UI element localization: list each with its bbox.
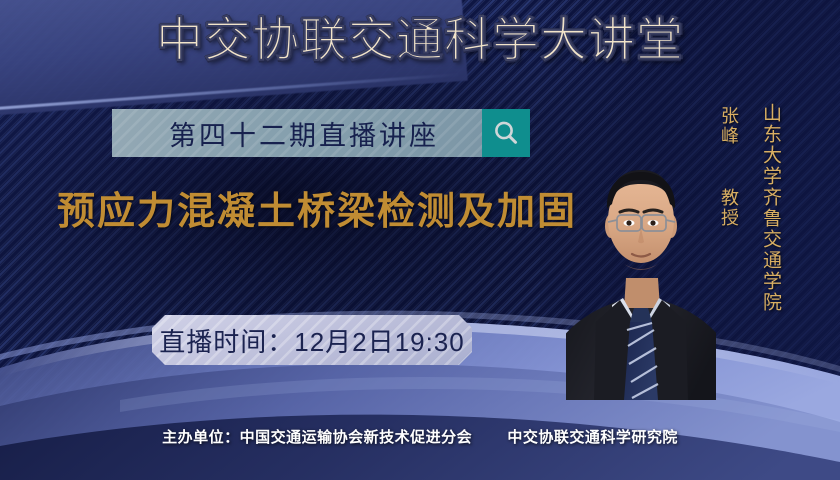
footer-organizers: 主办单位：中国交通运输协会新技术促进分会 中交协联交通科学研究院 <box>0 426 840 447</box>
footer-organizer-label: 主办单位：中国交通运输协会新技术促进分会 <box>162 429 472 446</box>
live-lecture-poster: 中交协联交通科学大讲堂 第四十二期直播讲座 预应力混凝土桥梁检测及加固 直播时间… <box>0 0 840 480</box>
search-icon <box>491 118 521 148</box>
footer-institute: 中交协联交通科学研究院 <box>507 429 678 446</box>
lecture-headline: 预应力混凝土桥梁检测及加固 <box>57 193 577 231</box>
episode-banner: 第四十二期直播讲座 <box>112 109 530 157</box>
poster-title: 中交协联交通科学大讲堂 <box>0 16 840 63</box>
broadcast-time-badge: 直播时间：12月2日19:30 <box>152 315 472 365</box>
episode-banner-bar: 第四十二期直播讲座 <box>112 109 482 157</box>
speaker-organization: 山东大学齐鲁交通学院 <box>757 103 784 313</box>
broadcast-time-label: 直播时间：12月2日19:30 <box>159 322 464 359</box>
speaker-name: 张峰 <box>716 106 742 146</box>
episode-label: 第四十二期直播讲座 <box>155 114 439 153</box>
speaker-role: 教授 <box>716 188 742 228</box>
search-button[interactable] <box>482 109 530 157</box>
speaker-portrait <box>566 108 716 400</box>
